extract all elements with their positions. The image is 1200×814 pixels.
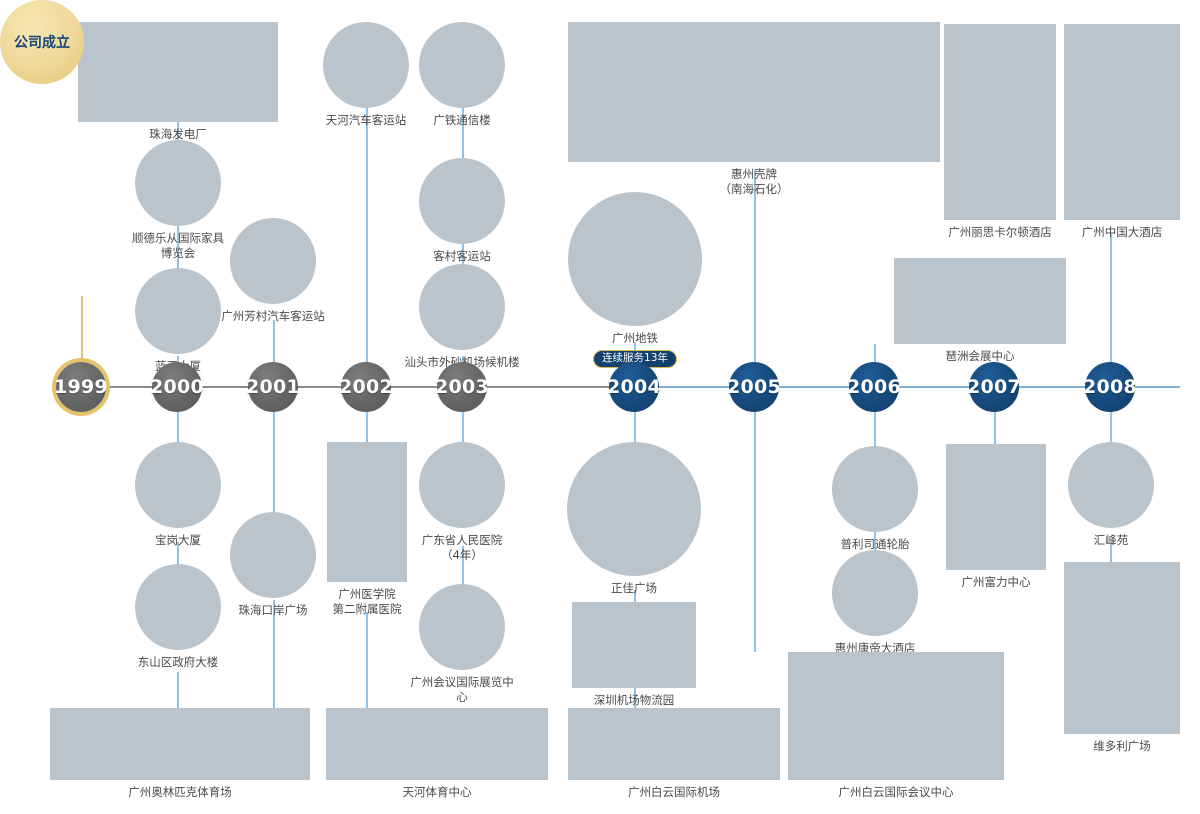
project-caption: 广州丽思卡尔顿酒店	[944, 225, 1056, 240]
project-caption: 广州奥林匹克体育场	[50, 785, 310, 800]
project-baogang-building[interactable]: 宝岗大厦	[134, 442, 222, 548]
project-guangzhou-intl-convention-exhibition-center[interactable]: 广州会议国际展览中心	[406, 584, 518, 705]
project-image	[568, 22, 940, 162]
year-node-2001[interactable]: 2001	[248, 362, 298, 412]
project-image	[230, 512, 316, 598]
project-image	[78, 22, 278, 122]
project-caption: 维多利广场	[1064, 739, 1180, 754]
project-caption: 天河汽车客运站	[318, 113, 414, 128]
year-node-2005[interactable]: 2005	[729, 362, 779, 412]
year-label: 2000	[150, 376, 204, 398]
project-caption: 广州白云国际会议中心	[788, 785, 1004, 800]
project-zhuhai-port-plaza[interactable]: 珠海口岸广场	[226, 512, 320, 618]
project-image	[1064, 24, 1180, 220]
project-caption: 珠海口岸广场	[226, 603, 320, 618]
project-caption: 惠州壳牌 （南海石化）	[568, 167, 940, 197]
project-china-hotel-guangzhou[interactable]: 广州中国大酒店	[1064, 24, 1180, 240]
project-image	[788, 652, 1004, 780]
project-image	[135, 442, 221, 528]
project-caption: 广州地铁	[562, 331, 708, 346]
project-guangzhou-rf-center[interactable]: 广州富力中心	[946, 444, 1046, 590]
project-caption: 广铁通信楼	[414, 113, 510, 128]
project-image	[50, 708, 310, 780]
project-image	[894, 258, 1066, 344]
project-huizhou-kande-hotel[interactable]: 惠州康帝大酒店	[828, 550, 922, 656]
project-pazhou-exhibition-center[interactable]: 琶洲会展中心	[894, 258, 1066, 364]
project-caption: 深圳机场物流园	[572, 693, 696, 708]
project-image	[326, 708, 548, 780]
year-label: 2004	[607, 376, 661, 398]
project-image	[419, 158, 505, 244]
project-image	[946, 444, 1046, 570]
project-image	[230, 218, 316, 304]
project-caption: 宝岗大厦	[134, 533, 222, 548]
project-image	[1068, 442, 1154, 528]
project-guangzhou-baiyun-intl-convention-center[interactable]: 广州白云国际会议中心	[788, 652, 1004, 800]
year-node-2004[interactable]: 2004	[609, 362, 659, 412]
connector-2000-down-c	[177, 672, 179, 708]
project-gzmu-second-affiliated-hospital[interactable]: 广州医学院 第二附属医院	[327, 442, 407, 617]
connector-2002-up-b	[366, 188, 368, 384]
project-huizhou-shell-nanhai-petrochem[interactable]: 惠州壳牌 （南海石化）	[568, 22, 940, 197]
year-label: 1999	[54, 376, 108, 398]
project-image	[572, 602, 696, 688]
project-huifeng-yuan[interactable]: 汇峰苑	[1068, 442, 1154, 548]
project-image	[832, 446, 918, 532]
project-tianhe-bus-station[interactable]: 天河汽车客运站	[318, 22, 414, 128]
project-image	[567, 442, 701, 576]
year-node-2008[interactable]: 2008	[1085, 362, 1135, 412]
project-bridgestone-tire[interactable]: 普利司通轮胎	[831, 446, 919, 552]
founding-label: 公司成立	[14, 32, 70, 52]
project-image	[327, 442, 407, 582]
year-label: 2007	[967, 376, 1021, 398]
year-label: 2008	[1083, 376, 1137, 398]
year-label: 2002	[339, 376, 393, 398]
project-zhuhai-power-plant[interactable]: 珠海发电厂	[78, 22, 278, 142]
connector-2002-down-b	[366, 612, 368, 708]
project-image	[1064, 562, 1180, 734]
project-image	[832, 550, 918, 636]
project-caption: 广州中国大酒店	[1064, 225, 1180, 240]
project-shantou-waisha-airport-terminal[interactable]: 汕头市外砂机场候机楼	[400, 264, 524, 370]
connector-2008-up	[1110, 234, 1112, 368]
project-caption: 广州医学院 第二附属医院	[327, 587, 407, 617]
project-image	[419, 22, 505, 108]
founding-bubble[interactable]: 公司成立	[0, 0, 84, 84]
year-label: 2006	[847, 376, 901, 398]
project-image	[419, 584, 505, 670]
connector-2005-down	[754, 390, 756, 652]
project-image	[419, 264, 505, 350]
connector-2005-up	[754, 170, 756, 368]
project-guangtie-telecom-building[interactable]: 广铁通信楼	[414, 22, 510, 128]
year-node-2002[interactable]: 2002	[341, 362, 391, 412]
project-guangzhou-baiyun-intl-airport[interactable]: 广州白云国际机场	[568, 708, 780, 800]
year-label: 2005	[727, 376, 781, 398]
project-caption: 正佳广场	[567, 581, 701, 596]
project-guangzhou-fangcun-bus-station[interactable]: 广州芳村汽车客运站	[208, 218, 338, 324]
project-image	[568, 192, 702, 326]
project-caption: 广州会议国际展览中心	[406, 675, 518, 705]
project-kecun-bus-station[interactable]: 客村客运站	[414, 158, 510, 264]
project-shenzhen-airport-logistics-park[interactable]: 深圳机场物流园	[572, 602, 696, 708]
project-caption: 广州芳村汽车客运站	[208, 309, 338, 324]
project-victory-plaza[interactable]: 维多利广场	[1064, 562, 1180, 754]
project-caption: 广州富力中心	[946, 575, 1046, 590]
year-label: 2003	[435, 376, 489, 398]
project-caption: 东山区政府大楼	[124, 655, 232, 670]
project-dongshan-government-building[interactable]: 东山区政府大楼	[124, 564, 232, 670]
project-image	[135, 564, 221, 650]
project-tianhe-sports-center[interactable]: 天河体育中心	[326, 708, 548, 800]
project-guangdong-provincial-peoples-hospital[interactable]: 广东省人民医院 （4年）	[418, 442, 506, 563]
project-image	[944, 24, 1056, 220]
year-node-1999[interactable]: 1999	[56, 362, 106, 412]
project-image	[323, 22, 409, 108]
year-label: 2001	[246, 376, 300, 398]
project-guangzhou-ritz-carlton-hotel[interactable]: 广州丽思卡尔顿酒店	[944, 24, 1056, 240]
project-caption: 琶洲会展中心	[894, 349, 1066, 364]
timeline-infographic: 公司成立 1999 2000 2001 2002 2003 2004 2005 …	[0, 0, 1200, 814]
project-image	[419, 442, 505, 528]
project-guangzhou-metro[interactable]: 广州地铁 连续服务13年	[562, 192, 708, 368]
project-grandview-mall[interactable]: 正佳广场	[567, 442, 701, 596]
project-caption: 客村客运站	[414, 249, 510, 264]
connector-1999-founding	[81, 296, 83, 362]
project-image	[135, 140, 221, 226]
project-guangzhou-olympic-stadium[interactable]: 广州奥林匹克体育场	[50, 708, 310, 800]
year-node-2000[interactable]: 2000	[152, 362, 202, 412]
year-node-2006[interactable]: 2006	[849, 362, 899, 412]
project-image	[568, 708, 780, 780]
year-node-2003[interactable]: 2003	[437, 362, 487, 412]
project-caption: 天河体育中心	[326, 785, 548, 800]
year-node-2007[interactable]: 2007	[969, 362, 1019, 412]
project-caption: 广州白云国际机场	[568, 785, 780, 800]
project-caption: 广东省人民医院 （4年）	[418, 533, 506, 563]
project-caption: 汇峰苑	[1068, 533, 1154, 548]
